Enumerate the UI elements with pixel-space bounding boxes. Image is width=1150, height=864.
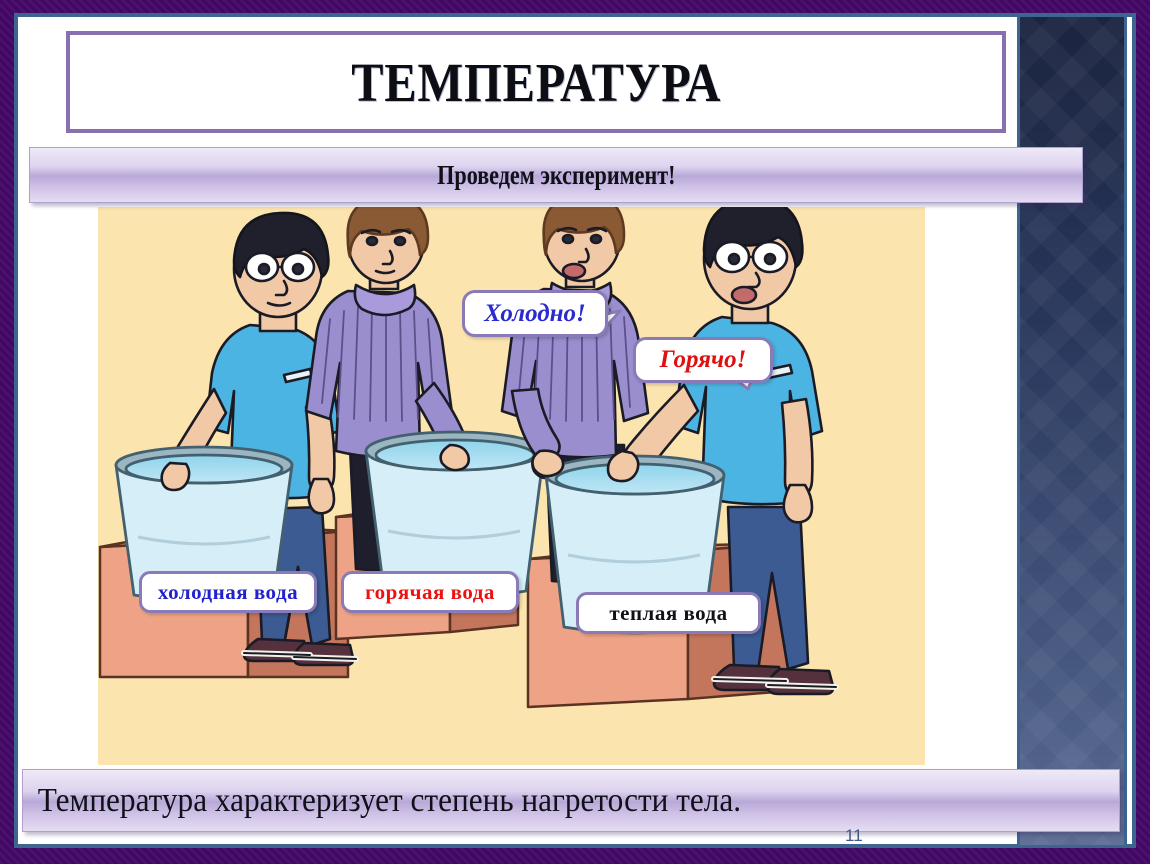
speech-bubble-cold: Холодно! xyxy=(462,290,608,337)
subtitle-text: Проведем эксперимент! xyxy=(437,160,675,191)
speech-bubble-hot-text: Горячо! xyxy=(660,346,747,374)
conclusion-banner: Температура характеризует степень нагрет… xyxy=(22,769,1120,832)
conclusion-text: Температура характеризует степень нагрет… xyxy=(23,782,741,820)
title-box: ТЕМПЕРАТУРА xyxy=(66,31,1006,133)
speech-bubble-hot: Горячо! xyxy=(633,337,773,383)
decorative-navy-panel xyxy=(1017,17,1127,845)
label-cold-water: холодная вода xyxy=(139,571,317,613)
subtitle-banner: Проведем эксперимент! xyxy=(29,147,1083,203)
label-hot-water: горячая вода xyxy=(341,571,519,613)
page-title: ТЕМПЕРАТУРА xyxy=(351,51,721,114)
label-hot-water-text: горячая вода xyxy=(365,580,495,605)
slide-number: 11 xyxy=(845,826,863,846)
slide-root: ТЕМПЕРАТУРА Проведем эксперимент! xyxy=(0,0,1150,864)
label-warm-water-text: теплая вода xyxy=(609,601,727,626)
label-warm-water: теплая вода xyxy=(576,592,761,634)
label-cold-water-text: холодная вода xyxy=(158,580,298,605)
experiment-illustration: Холодно! Горячо! холодная вода горячая в… xyxy=(98,207,925,765)
speech-bubble-cold-text: Холодно! xyxy=(484,300,586,328)
